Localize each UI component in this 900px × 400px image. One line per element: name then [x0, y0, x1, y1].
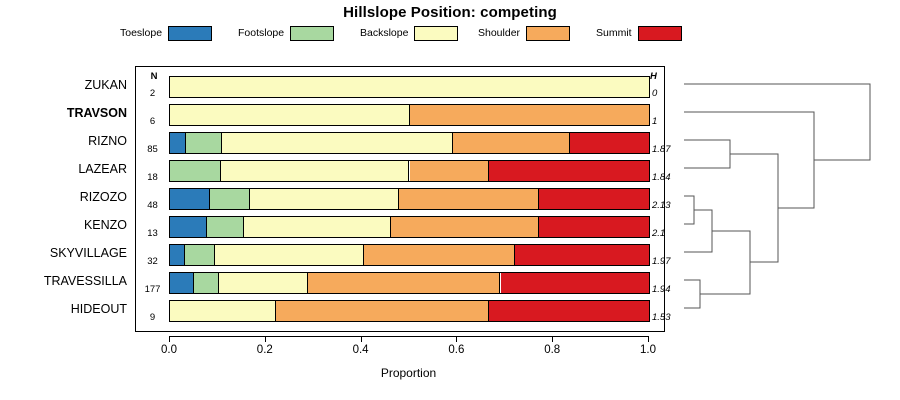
page-title: Hillslope Position: competing: [0, 4, 900, 21]
bar-row-zukan[interactable]: [169, 76, 650, 98]
x-tick-mark: [361, 336, 362, 342]
dendro-join-travson-f: [684, 112, 814, 208]
dendro-join-a-e: [730, 154, 778, 262]
bar-row-lazear[interactable]: [169, 160, 650, 182]
legend-item-footslope: Footslope: [238, 23, 334, 43]
category-label-skyvillage: SKYVILLAGE: [50, 246, 127, 260]
category-label-kenzo: KENZO: [84, 218, 127, 232]
category-label-rizozo: RIZOZO: [80, 190, 127, 204]
category-label-travson: TRAVSON: [67, 106, 127, 120]
x-axis-label: Proportion: [169, 366, 648, 380]
n-value: 85: [137, 144, 168, 155]
n-value: 48: [137, 200, 168, 211]
bar-segment-shoulder[interactable]: [410, 161, 489, 181]
dendrogram-svg: [672, 60, 900, 340]
x-tick-label: 1.0: [628, 344, 668, 356]
bar-row-rizno[interactable]: [169, 132, 650, 154]
bar-segment-summit[interactable]: [489, 161, 649, 181]
legend-swatch: [638, 26, 682, 41]
x-tick-label: 0.0: [149, 344, 189, 356]
legend-label: Toeslope: [120, 27, 162, 39]
dendro-join-c-d: [700, 231, 750, 294]
dendro-join-zukan-g: [684, 84, 870, 160]
bar-segment-shoulder[interactable]: [364, 245, 514, 265]
bar-segment-footslope[interactable]: [185, 245, 215, 265]
n-value: 2: [137, 88, 168, 99]
n-value: 177: [137, 284, 168, 295]
legend-item-shoulder: Shoulder: [478, 23, 570, 43]
legend-label: Footslope: [238, 27, 284, 39]
dendrogram: [672, 60, 900, 340]
bar-segment-toeslope[interactable]: [170, 245, 185, 265]
n-value: 6: [137, 116, 168, 127]
bar-row-hideout[interactable]: [169, 300, 650, 322]
bar-segment-summit[interactable]: [489, 301, 649, 321]
bar-segment-shoulder[interactable]: [391, 217, 539, 237]
dendro-join-travessilla-hideout: [684, 280, 700, 308]
x-axis-line: [169, 336, 648, 337]
x-tick-label: 0.6: [436, 344, 476, 356]
n-value: 32: [137, 256, 168, 267]
bar-row-skyvillage[interactable]: [169, 244, 650, 266]
x-tick-label: 0.8: [532, 344, 572, 356]
n-value: 9: [137, 312, 168, 323]
bar-segment-backslope[interactable]: [250, 189, 399, 209]
bar-segment-footslope[interactable]: [186, 133, 222, 153]
bar-segment-backslope[interactable]: [221, 161, 410, 181]
bar-segment-backslope[interactable]: [170, 77, 649, 97]
category-label-column: ZUKANTRAVSONRIZNOLAZEARRIZOZOKENZOSKYVIL…: [0, 66, 131, 332]
bar-row-travessilla[interactable]: [169, 272, 650, 294]
bar-segment-shoulder[interactable]: [399, 189, 538, 209]
category-label-travessilla: TRAVESSILLA: [44, 274, 127, 288]
legend-item-backslope: Backslope: [360, 23, 458, 43]
x-tick-label: 0.4: [341, 344, 381, 356]
bar-segment-summit[interactable]: [501, 273, 649, 293]
dendro-join-rizno-lazear: [684, 140, 730, 168]
bar-segment-footslope[interactable]: [170, 161, 221, 181]
bar-segment-shoulder[interactable]: [308, 273, 501, 293]
bar-segment-footslope[interactable]: [207, 217, 244, 237]
x-tick-label: 0.2: [245, 344, 285, 356]
x-tick-mark: [169, 336, 170, 342]
bar-segment-backslope[interactable]: [244, 217, 392, 237]
x-tick-mark: [552, 336, 553, 342]
legend-label: Shoulder: [478, 27, 520, 39]
bar-segment-shoulder[interactable]: [410, 105, 650, 125]
legend-swatch: [290, 26, 334, 41]
legend-swatch: [526, 26, 570, 41]
bar-segment-footslope[interactable]: [194, 273, 218, 293]
bar-row-rizozo[interactable]: [169, 188, 650, 210]
bar-segment-backslope[interactable]: [170, 301, 276, 321]
bar-segment-toeslope[interactable]: [170, 133, 186, 153]
category-label-hideout: HIDEOUT: [71, 302, 127, 316]
bar-segment-shoulder[interactable]: [453, 133, 570, 153]
legend: ToeslopeFootslopeBackslopeShoulderSummit: [110, 23, 710, 43]
n-column-header: N: [140, 71, 168, 82]
legend-item-toeslope: Toeslope: [120, 23, 212, 43]
bar-segment-footslope[interactable]: [210, 189, 250, 209]
bar-segment-summit[interactable]: [570, 133, 649, 153]
bar-segment-summit[interactable]: [539, 217, 649, 237]
x-tick-mark: [265, 336, 266, 342]
legend-swatch: [414, 26, 458, 41]
category-label-zukan: ZUKAN: [85, 78, 127, 92]
bar-segment-shoulder[interactable]: [276, 301, 489, 321]
dendro-join-rizozo-kenzo: [684, 196, 694, 224]
bar-row-kenzo[interactable]: [169, 216, 650, 238]
bar-segment-summit[interactable]: [539, 189, 649, 209]
bar-segment-backslope[interactable]: [219, 273, 308, 293]
bar-segment-toeslope[interactable]: [170, 217, 207, 237]
bar-segment-backslope[interactable]: [170, 105, 410, 125]
x-tick-mark: [648, 336, 649, 342]
legend-item-summit: Summit: [596, 23, 682, 43]
category-label-lazear: LAZEAR: [78, 162, 127, 176]
category-label-rizno: RIZNO: [88, 134, 127, 148]
x-tick-mark: [456, 336, 457, 342]
n-value: 18: [137, 172, 168, 183]
n-value: 13: [137, 228, 168, 239]
bar-segment-backslope[interactable]: [215, 245, 364, 265]
dendro-join-b-skyvillage: [684, 210, 712, 252]
bar-segment-toeslope[interactable]: [170, 189, 210, 209]
legend-label: Backslope: [360, 27, 408, 39]
legend-swatch: [168, 26, 212, 41]
bar-segment-toeslope[interactable]: [170, 273, 194, 293]
bar-segment-summit[interactable]: [515, 245, 649, 265]
bar-row-travson[interactable]: [169, 104, 650, 126]
bar-segment-backslope[interactable]: [222, 133, 453, 153]
chart-canvas: Hillslope Position: competing ToeslopeFo…: [0, 0, 900, 400]
legend-label: Summit: [596, 27, 632, 39]
